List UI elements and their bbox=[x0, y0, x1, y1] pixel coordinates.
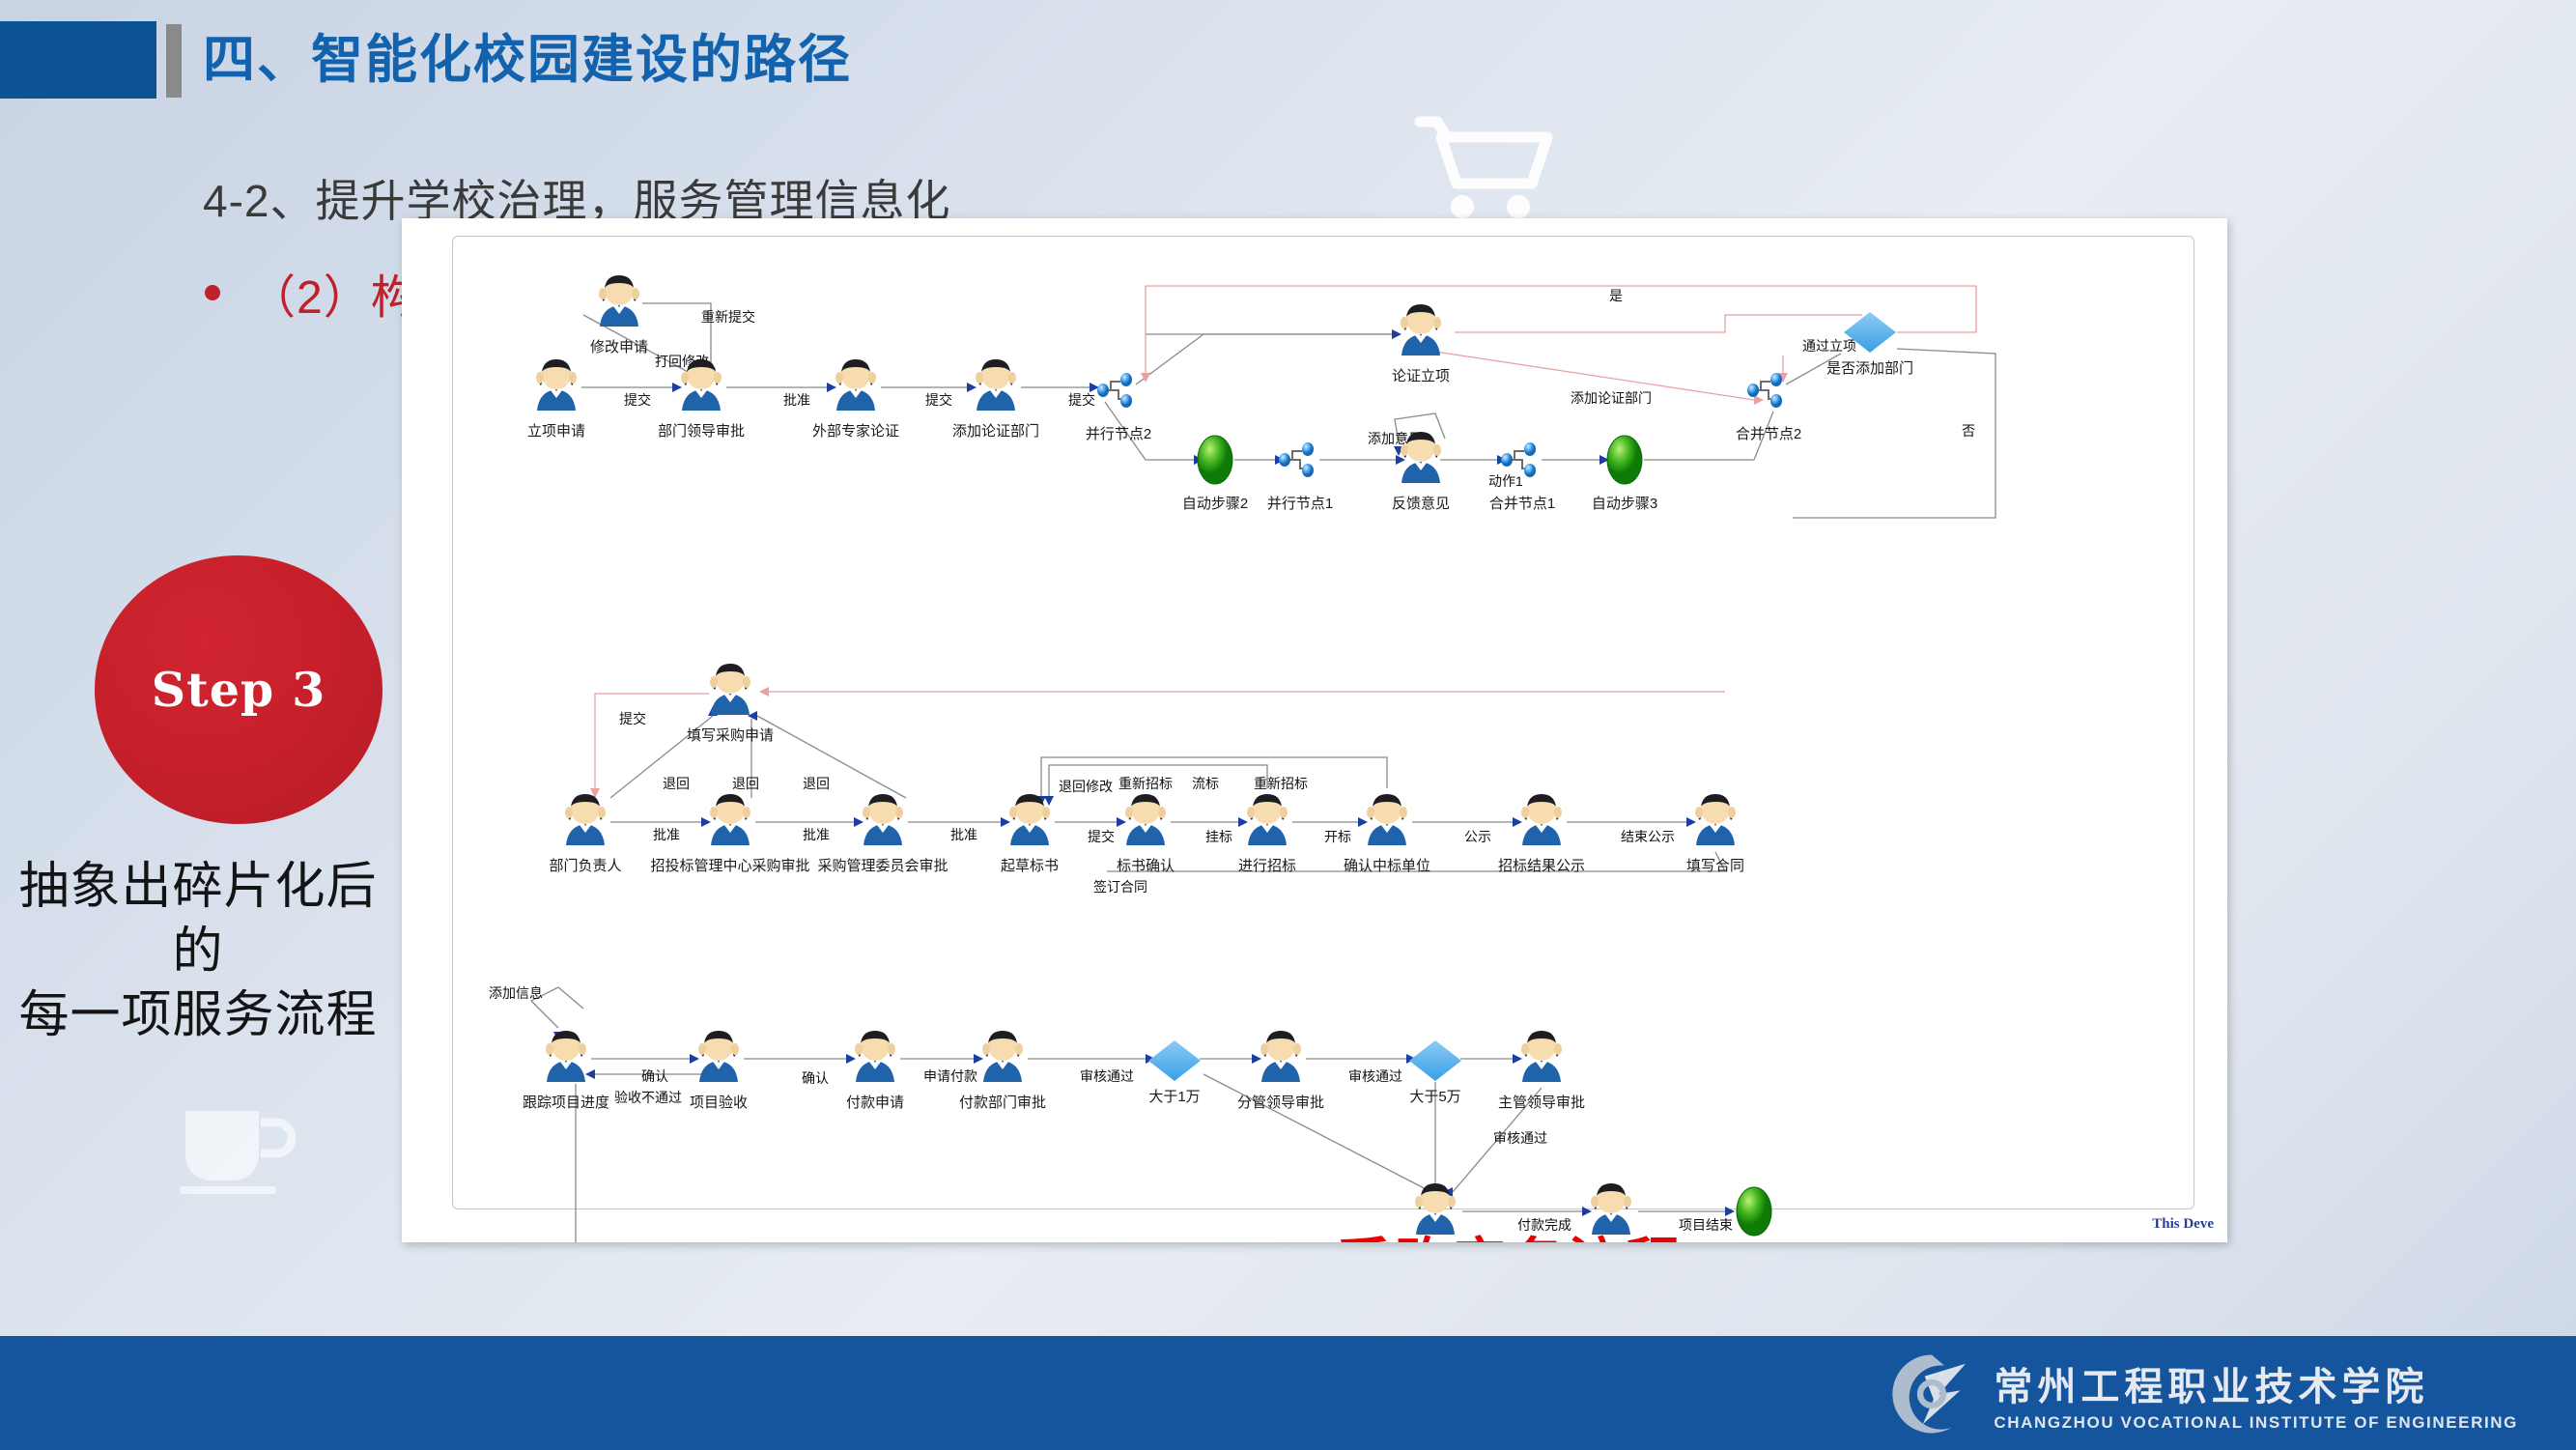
flow-edge-label: 确认 bbox=[802, 1068, 829, 1088]
flow-edge-label: 重新提交 bbox=[701, 307, 755, 327]
person-node-icon bbox=[1517, 1030, 1566, 1091]
bullet-dot-icon bbox=[205, 285, 220, 300]
diagram-canvas: 提交重新提交打回修改批准提交提交是通过立项添加论证部门添加意见动作1否 立项申请… bbox=[402, 218, 2227, 1242]
flow-edge-label: 批准 bbox=[803, 825, 830, 844]
flow-edge-label: 提交 bbox=[624, 390, 651, 410]
flow-edge-label: 提交 bbox=[1088, 827, 1115, 846]
person-node-icon bbox=[978, 1030, 1027, 1091]
flow-edge-label: 添加论证部门 bbox=[1571, 388, 1652, 408]
school-logo: 常州工程职业技术学院 CHANGZHOU VOCATIONAL INSTITUT… bbox=[1887, 1350, 2518, 1438]
person-node-icon bbox=[595, 274, 643, 335]
person-node-icon bbox=[1363, 793, 1411, 854]
flow-node-label: 主管领导审批 bbox=[1435, 1092, 1648, 1112]
flow-edge-label: 重新招标 bbox=[1118, 774, 1173, 793]
school-name-cn: 常州工程职业技术学院 bbox=[1994, 1355, 2518, 1411]
person-node-icon bbox=[851, 1030, 899, 1091]
flow-edge-label: 批准 bbox=[653, 825, 680, 844]
decision-icon bbox=[1146, 1038, 1203, 1088]
decision-icon bbox=[1842, 310, 1898, 359]
flow-edge-label: 开标 bbox=[1324, 827, 1351, 846]
flow-node-label: 是否添加部门 bbox=[1764, 357, 1976, 378]
diagram-big-label: 采购实务流程 bbox=[1337, 1220, 1684, 1242]
person-node-icon bbox=[972, 358, 1020, 419]
fork-node-icon bbox=[1501, 441, 1543, 484]
person-node-icon bbox=[1397, 303, 1445, 364]
person-node-icon bbox=[677, 358, 725, 419]
end-state-icon bbox=[1735, 1185, 1773, 1242]
flow-edge-label: 退回 bbox=[803, 774, 830, 793]
person-node-icon bbox=[1691, 793, 1740, 854]
person-node-icon bbox=[1397, 431, 1445, 492]
footer-bar: 常州工程职业技术学院 CHANGZHOU VOCATIONAL INSTITUT… bbox=[0, 1336, 2576, 1450]
person-node-icon bbox=[706, 793, 754, 854]
flow-edge-label: 是 bbox=[1609, 286, 1623, 305]
flow-edge-label: 流标 bbox=[1192, 774, 1219, 793]
flow-node-label: 论证立项 bbox=[1315, 365, 1527, 385]
flow-node-label: 填写采购申请 bbox=[624, 725, 836, 745]
flow-edge-label: 审核通过 bbox=[1348, 1066, 1402, 1086]
step-caption-line2: 每一项服务流程 bbox=[0, 983, 396, 1048]
flow-edge-label: 添加信息 bbox=[489, 983, 543, 1003]
person-node-icon bbox=[1257, 1030, 1305, 1091]
flow-edge-label: 退回 bbox=[663, 774, 690, 793]
person-node-icon bbox=[694, 1030, 743, 1091]
workflow-diagram-panel: 提交重新提交打回修改批准提交提交是通过立项添加论证部门添加意见动作1否 立项申请… bbox=[402, 218, 2227, 1242]
person-node-icon bbox=[1243, 793, 1291, 854]
end-state-icon bbox=[1196, 434, 1234, 491]
flow-edge-label: 提交 bbox=[925, 390, 952, 410]
flow-edge-label: 批准 bbox=[950, 825, 977, 844]
flow-node-label: 修改申请 bbox=[513, 336, 725, 356]
flow-edge-label: 批准 bbox=[783, 390, 810, 410]
flow-edge-label: 审核通过 bbox=[1080, 1066, 1134, 1086]
flow-edge-label: 审核通过 bbox=[1493, 1128, 1547, 1148]
person-node-icon bbox=[832, 358, 880, 419]
flow-edge-label: 否 bbox=[1962, 421, 1975, 441]
person-node-icon bbox=[561, 793, 609, 854]
fork-node-icon bbox=[1279, 441, 1321, 484]
person-node-icon bbox=[542, 1030, 590, 1091]
flow-node-label: 并行节点2 bbox=[1012, 423, 1225, 443]
person-node-icon bbox=[1517, 793, 1566, 854]
page-title: 四、智能化校园建设的路径 bbox=[203, 21, 1555, 99]
person-node-icon bbox=[1005, 793, 1054, 854]
step-badge-label: Step 3 bbox=[152, 662, 326, 718]
header-accent-square bbox=[0, 21, 156, 99]
flow-edge-label: 项目结束 bbox=[1679, 1215, 1733, 1235]
decision-icon bbox=[1407, 1038, 1463, 1088]
school-logo-icon bbox=[1887, 1350, 1976, 1438]
flow-edge-label: 退回修改 bbox=[1059, 777, 1113, 796]
flow-edge-label: 确认 bbox=[641, 1066, 668, 1086]
cup-watermark-icon bbox=[176, 1090, 301, 1196]
flow-node-label: 合并节点2 bbox=[1662, 423, 1875, 443]
step-caption-line1: 抽象出碎片化后的 bbox=[0, 855, 396, 983]
person-node-icon bbox=[1121, 793, 1170, 854]
flow-node-label: 自动步骤3 bbox=[1518, 493, 1731, 513]
flow-edge-label: 签订合同 bbox=[1093, 877, 1147, 896]
school-name-en: CHANGZHOU VOCATIONAL INSTITUTE OF ENGINE… bbox=[1994, 1413, 2518, 1433]
flow-edge-label: 结束公示 bbox=[1621, 827, 1675, 846]
person-node-icon bbox=[859, 793, 907, 854]
step-badge: Step 3 bbox=[95, 555, 382, 824]
person-node-icon bbox=[706, 663, 754, 724]
fork-node-icon bbox=[1097, 371, 1140, 414]
flow-edge-label: 重新招标 bbox=[1254, 774, 1308, 793]
flow-edge-label: 退回 bbox=[732, 774, 759, 793]
flow-node-label: 填写合同 bbox=[1609, 855, 1822, 875]
step-caption: 抽象出碎片化后的 每一项服务流程 bbox=[0, 855, 396, 1048]
flow-edge-label: 提交 bbox=[1068, 390, 1095, 410]
flow-edge-label: 公示 bbox=[1464, 827, 1491, 846]
person-node-icon bbox=[532, 358, 580, 419]
header-accent-bar bbox=[166, 24, 182, 98]
flow-edge-label: 申请付款 bbox=[923, 1066, 977, 1086]
diagram-watermark-note: This Deve bbox=[2152, 1216, 2214, 1233]
flow-edge-label: 挂标 bbox=[1205, 827, 1232, 846]
end-state-icon bbox=[1605, 434, 1644, 491]
